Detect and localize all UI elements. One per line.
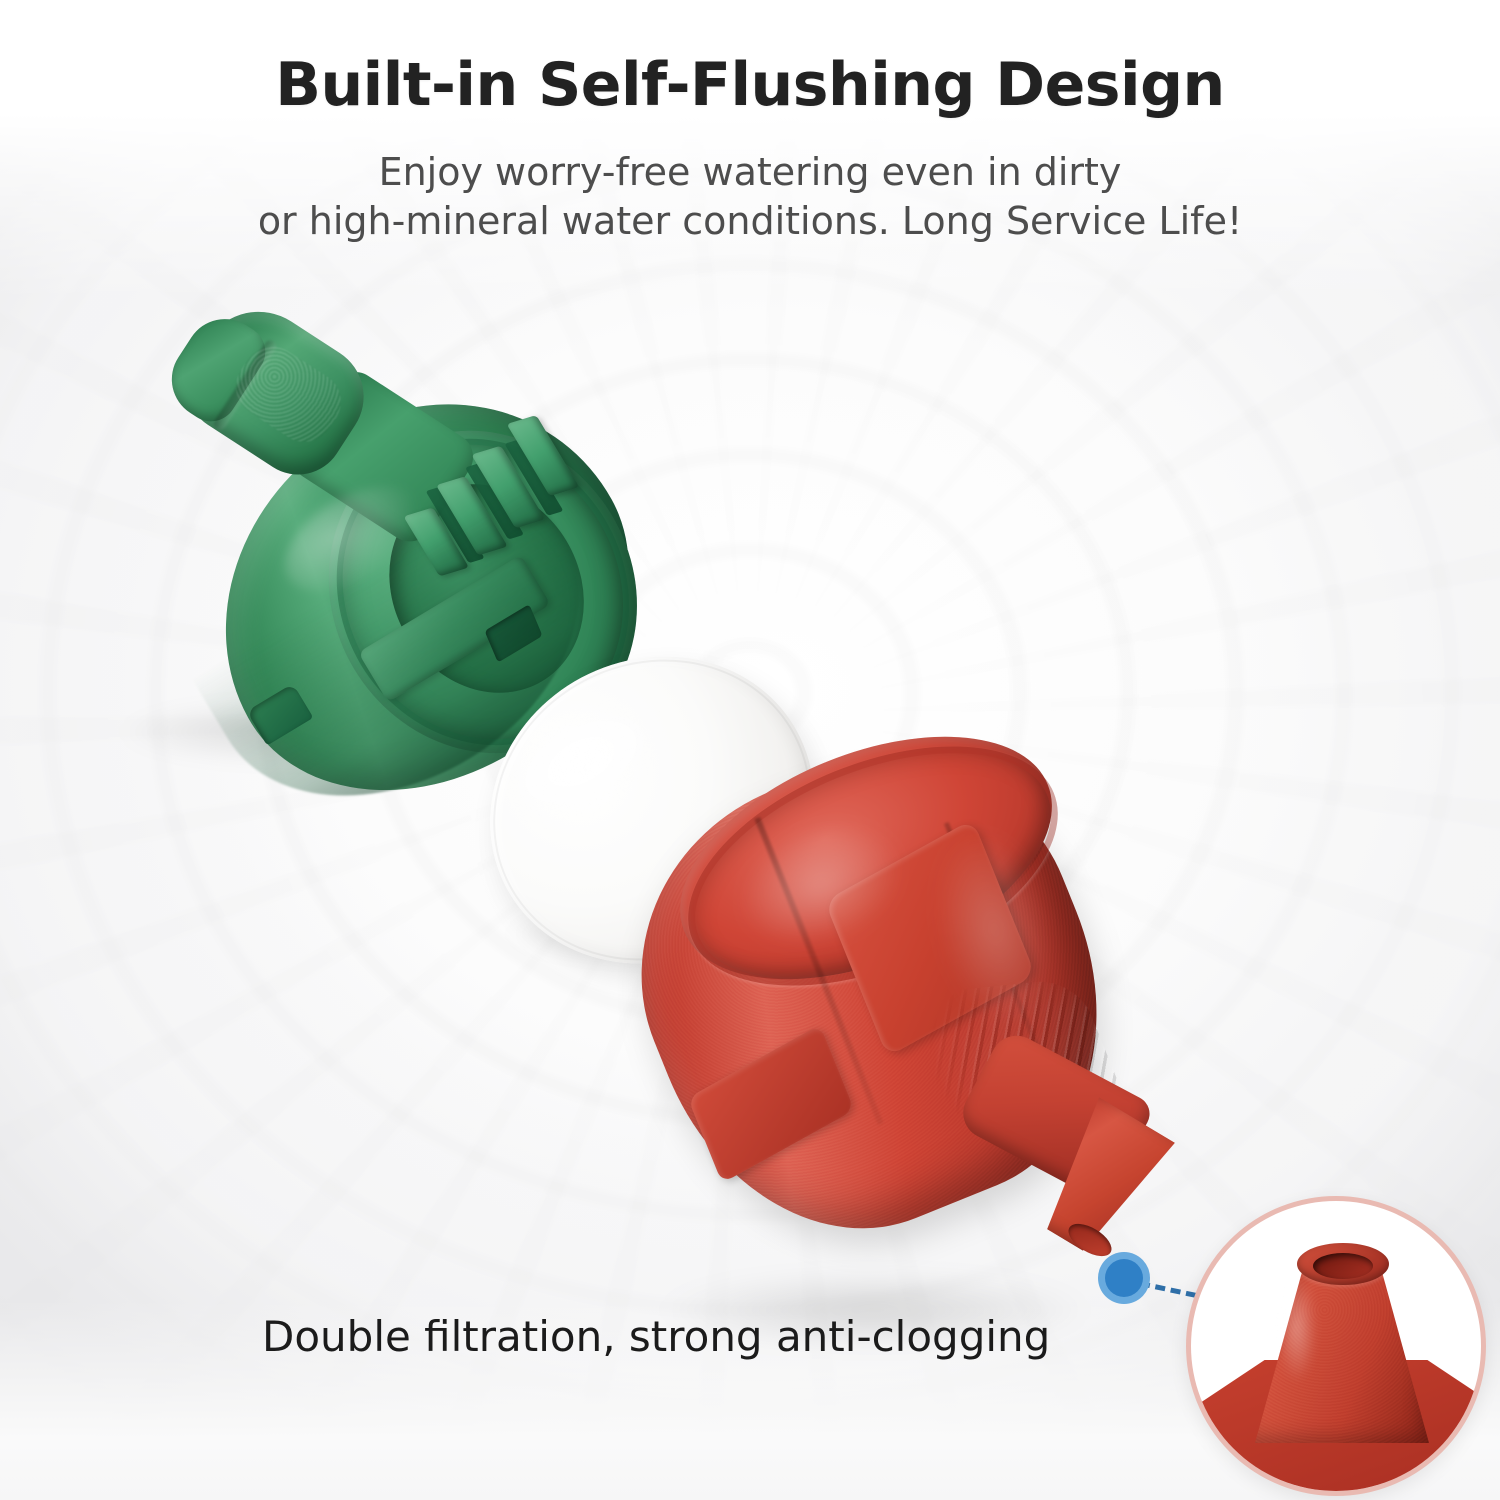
magnifier-outlet-hole: [1313, 1253, 1373, 1279]
subtitle-line-2: or high-mineral water conditions. Long S…: [0, 197, 1500, 246]
magnifier-nozzle-detail: [1186, 1196, 1486, 1496]
page-title: Built-in Self-Flushing Design: [0, 50, 1500, 120]
feature-caption: Double filtration, strong anti-clogging: [262, 1312, 1050, 1361]
red-dripper-body: [640, 760, 1240, 1320]
callout-marker-dot: [1098, 1252, 1150, 1304]
magnifier-highlight: [1277, 1273, 1317, 1383]
product-feature-graphic: Built-in Self-Flushing Design Enjoy worr…: [0, 0, 1500, 1500]
subtitle-line-1: Enjoy worry-free watering even in dirty: [0, 148, 1500, 197]
page-subtitle: Enjoy worry-free watering even in dirty …: [0, 148, 1500, 245]
